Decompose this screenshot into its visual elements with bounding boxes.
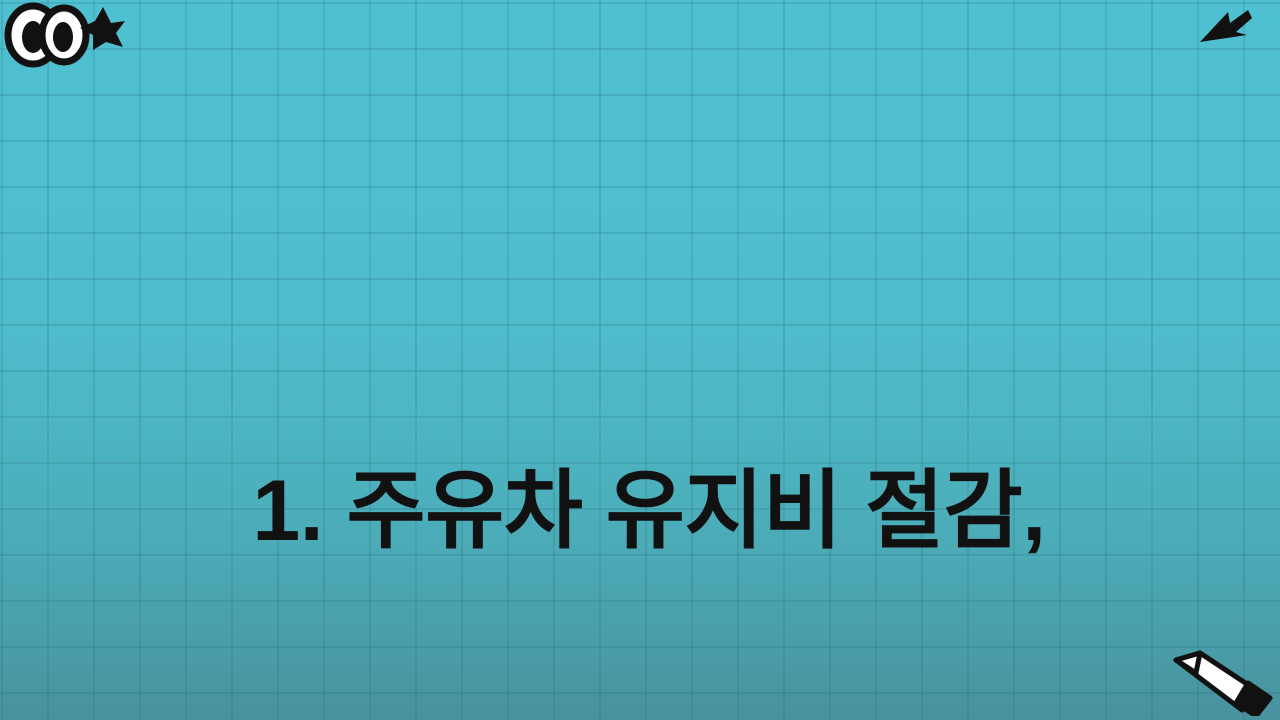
page-title: 1. 주유차 유지비 절감, 왜 카드 조합이 중요할까요: [0, 224, 1280, 720]
arrow-down-left-icon: [1198, 6, 1252, 50]
headline-line-1: 1. 주유차 유지비 절감,: [0, 454, 1280, 569]
slide-canvas: 1. 주유차 유지비 절감, 왜 카드 조합이 중요할까요: [0, 0, 1280, 720]
star-icon: [78, 4, 126, 50]
